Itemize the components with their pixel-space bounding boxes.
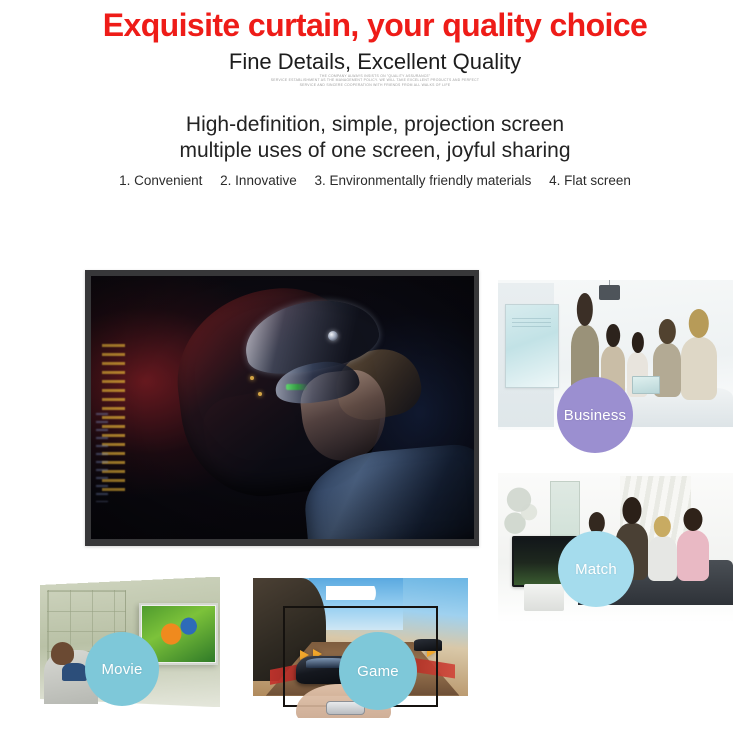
ceiling-projector-icon xyxy=(599,285,620,300)
badge-business: Business xyxy=(557,377,633,453)
description-line-1: High-definition, simple, projection scre… xyxy=(0,112,750,138)
description-line-2: multiple uses of one screen, joyful shar… xyxy=(0,138,750,164)
badge-match: Match xyxy=(558,531,634,607)
feature-item-4: 4. Flat screen xyxy=(549,173,631,188)
badge-movie-label: Movie xyxy=(101,661,142,678)
person-head xyxy=(654,516,670,537)
page-subheadline: Fine Details, Excellent Quality xyxy=(0,48,750,76)
game-cloud xyxy=(326,586,382,600)
feature-item-2: 2. Innovative xyxy=(220,173,297,188)
hero-screen-content xyxy=(91,276,474,539)
match-tv-stand xyxy=(524,584,564,611)
person-head xyxy=(632,332,644,353)
person-head xyxy=(606,324,620,347)
business-laptop xyxy=(632,376,660,394)
company-fineprint: THE COMPANY ALWAYS INSISTS ON "QUALITY A… xyxy=(0,74,750,87)
feature-list: 1. Convenient 2. Innovative 3. Environme… xyxy=(0,172,750,190)
product-description: High-definition, simple, projection scre… xyxy=(0,112,750,164)
badge-movie: Movie xyxy=(85,632,159,706)
page-headline: Exquisite curtain, your quality choice xyxy=(0,6,750,44)
movie-viewer-shirt xyxy=(62,663,87,681)
movie-viewer-head xyxy=(51,642,74,665)
badge-business-label: Business xyxy=(564,407,626,424)
match-viewer-3 xyxy=(648,536,676,581)
scene-card-game: Game xyxy=(253,578,468,718)
business-projection-board xyxy=(505,304,559,388)
match-viewer-4 xyxy=(677,530,710,581)
badge-match-label: Match xyxy=(575,561,617,578)
feature-item-1: 1. Convenient xyxy=(119,173,202,188)
scene-card-match: Match xyxy=(498,473,733,623)
screen-vignette xyxy=(91,276,474,539)
badge-game-label: Game xyxy=(357,663,399,680)
hero-projection-screen xyxy=(85,270,479,546)
business-attendee-4 xyxy=(681,337,716,400)
fineprint-line-3: SERVICE AND SINCERE COOPERATION WITH FRI… xyxy=(0,82,750,87)
scene-card-movie: Movie xyxy=(40,577,220,707)
feature-item-3: 3. Environmentally friendly materials xyxy=(315,173,532,188)
badge-game: Game xyxy=(339,632,417,710)
scene-card-business: Business xyxy=(498,280,733,430)
product-marketing-page: Exquisite curtain, your quality choice F… xyxy=(0,0,750,750)
